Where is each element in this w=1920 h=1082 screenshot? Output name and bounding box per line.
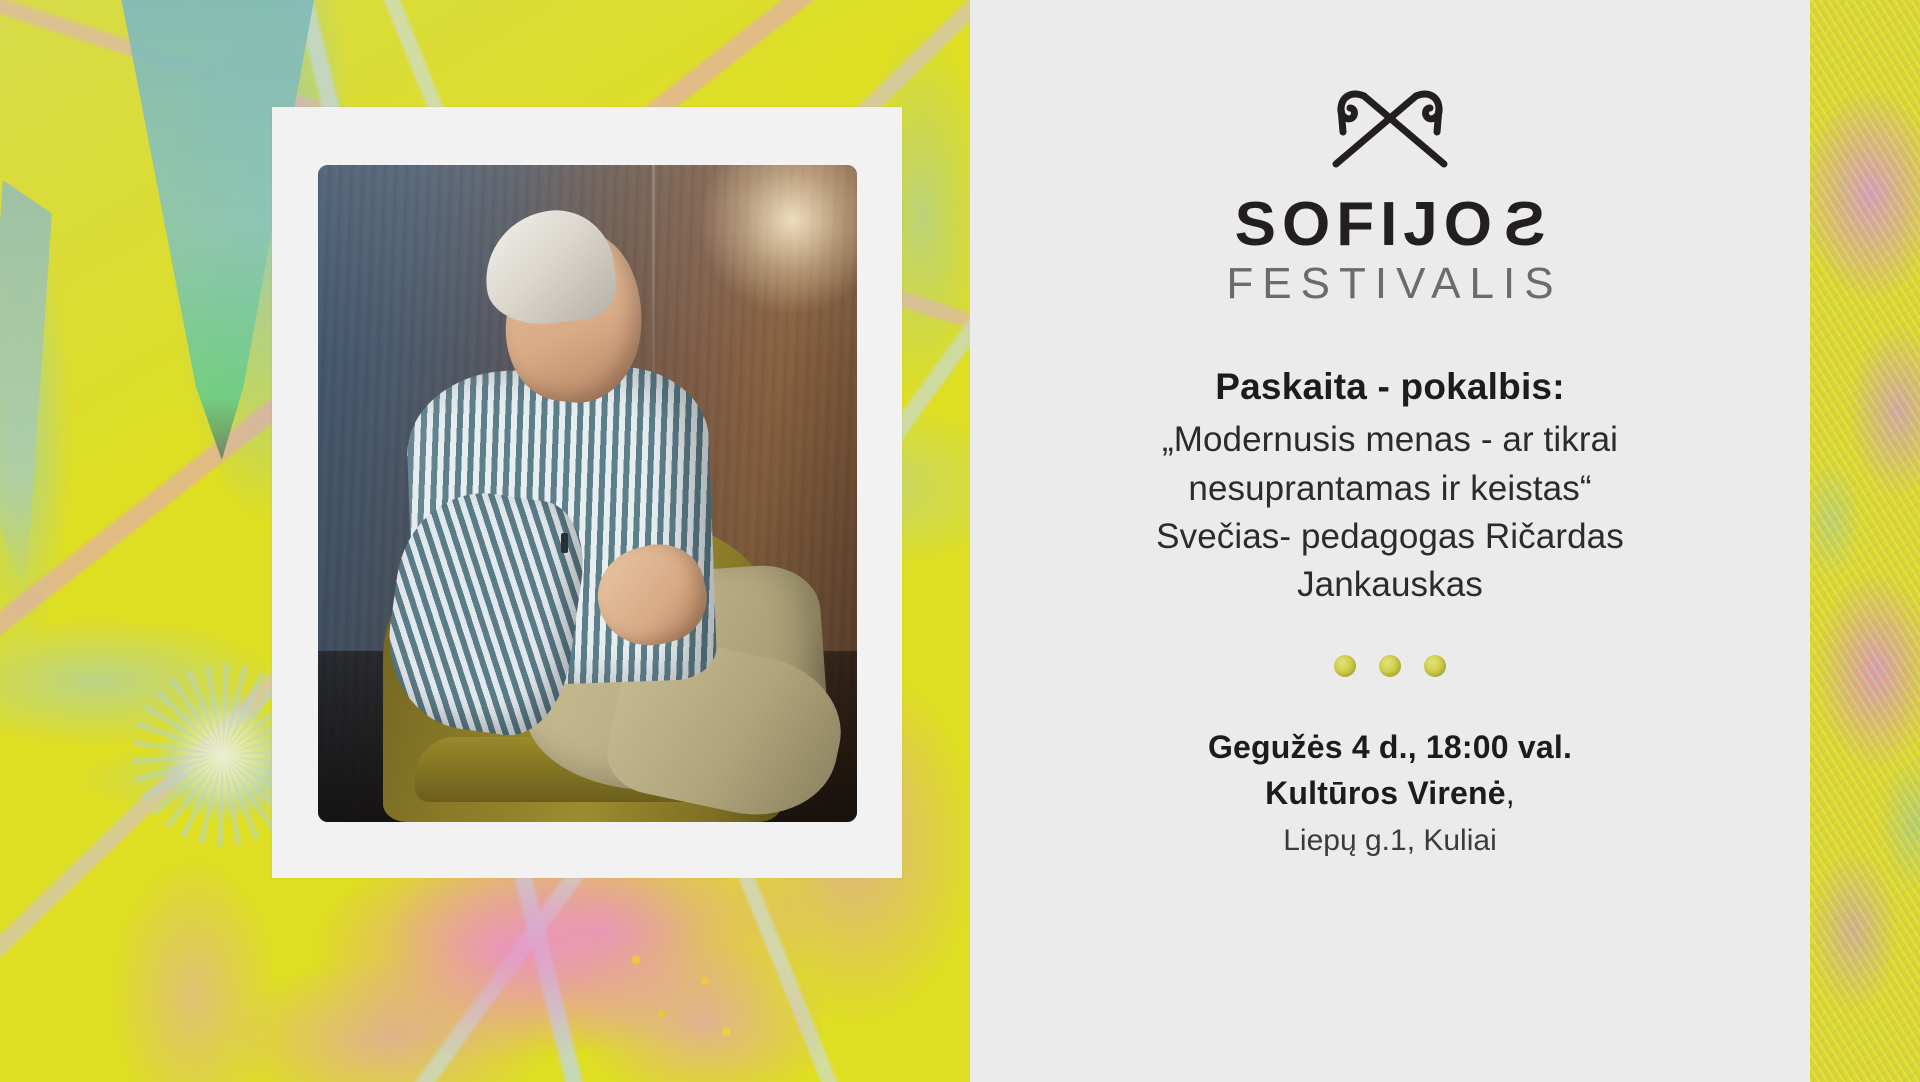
divider-dot (1379, 655, 1401, 677)
event-venue-comma: , (1506, 775, 1515, 811)
lecture-subtitle-line: Jankauskas (1014, 561, 1766, 609)
event-address: Liepų g.1, Kuliai (1014, 820, 1766, 862)
speaker-photo (318, 165, 857, 822)
logo-wordmark: SOFIJOS (970, 194, 1810, 256)
photo-frame (272, 107, 902, 878)
poster-content: SOFIJOS FESTIVALIS Paskaita - pokalbis: … (970, 0, 1810, 862)
logo-wordmark-mirrored-s: S (1498, 194, 1545, 256)
headline-block: Paskaita - pokalbis: „Modernusis menas -… (970, 364, 1810, 609)
lecture-title: Paskaita - pokalbis: (1014, 364, 1766, 410)
strip-vein-lines (1810, 0, 1920, 1082)
left-image-panel (0, 0, 970, 1082)
event-venue-line: Kultūros Virenė, (1014, 771, 1766, 816)
crossed-pitchforks-icon (1320, 80, 1460, 172)
lecture-subtitle-line: Svečias- pedagogas Ričardas (1014, 513, 1766, 561)
divider-dot (1334, 655, 1356, 677)
lecture-subtitle-line: nesuprantamas ir keistas“ (1014, 465, 1766, 513)
right-content-panel: SOFIJOS FESTIVALIS Paskaita - pokalbis: … (970, 0, 1810, 1082)
lapel-microphone-icon (561, 533, 568, 553)
right-decorative-strip (1810, 0, 1920, 1082)
floral-pollen-dots (600, 930, 780, 1080)
floral-bloom (158, 690, 288, 820)
lecture-subtitle-line: „Modernusis menas - ar tikrai (1014, 416, 1766, 464)
logo-subtitle: FESTIVALIS (970, 262, 1810, 306)
photo-light-flare (697, 165, 857, 315)
event-datetime: Gegužės 4 d., 18:00 val. (1014, 725, 1766, 770)
event-venue: Kultūros Virenė (1265, 775, 1506, 811)
dot-divider (970, 655, 1810, 677)
festival-logo: SOFIJOS FESTIVALIS (970, 80, 1810, 306)
divider-dot (1424, 655, 1446, 677)
event-poster: SOFIJOS FESTIVALIS Paskaita - pokalbis: … (0, 0, 1920, 1082)
logo-wordmark-prefix: SOFIJO (1235, 194, 1498, 256)
event-details: Gegužės 4 d., 18:00 val. Kultūros Virenė… (970, 725, 1810, 862)
lecture-subtitle: „Modernusis menas - ar tikrai nesupranta… (1014, 416, 1766, 609)
